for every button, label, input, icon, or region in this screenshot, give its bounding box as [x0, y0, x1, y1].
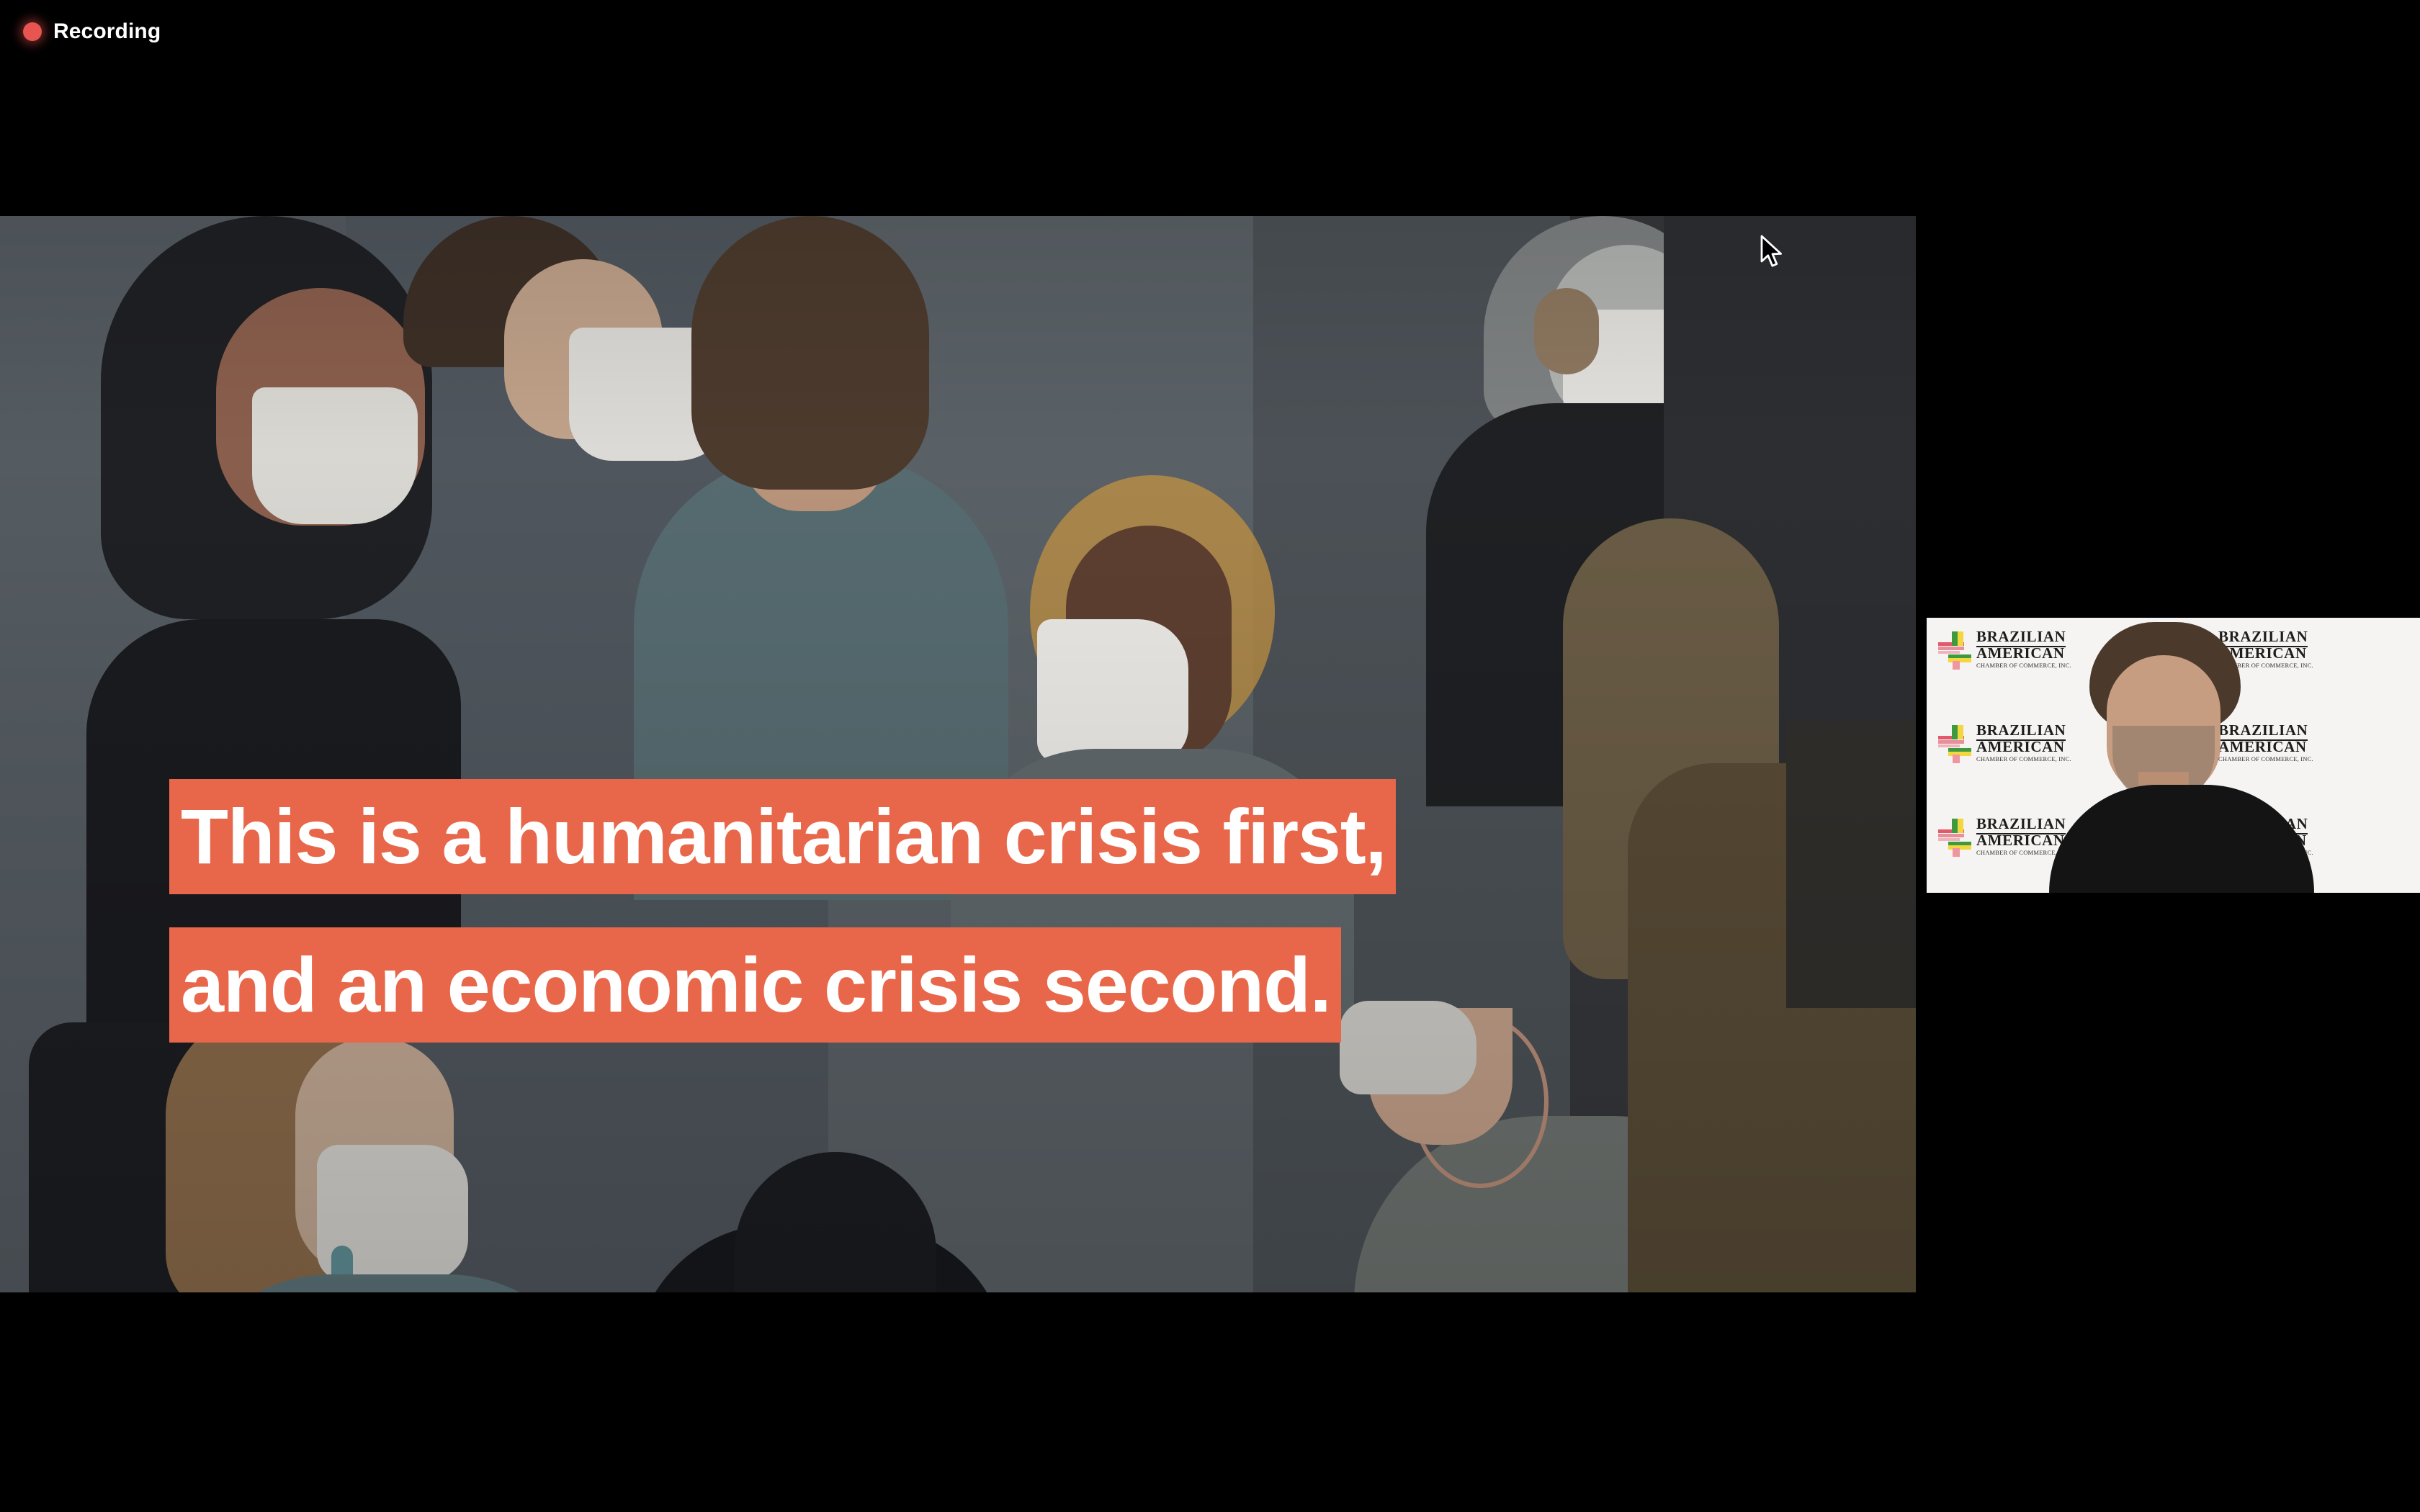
recording-label: Recording — [53, 21, 161, 42]
quote-line-1: This is a humanitarian crisis first, — [169, 779, 1396, 894]
logo-word-american: AMERICAN — [1976, 646, 2071, 661]
logo-word-american: AMERICAN — [1976, 739, 2071, 755]
speaker-avatar — [2062, 618, 2300, 893]
record-dot-icon — [23, 22, 42, 41]
sponsor-logo: BRAZILIAN AMERICAN CHAMBER OF COMMERCE, … — [1938, 816, 2071, 856]
quote-line-2: and an economic crisis second. — [169, 927, 1341, 1043]
sponsor-logo: BRAZILIAN AMERICAN CHAMBER OF COMMERCE, … — [1938, 629, 2071, 669]
brazilian-american-chamber-logo-icon — [1938, 631, 1971, 666]
mouse-pointer-icon — [1760, 235, 1785, 269]
recording-indicator: Recording — [23, 16, 161, 48]
brazilian-american-chamber-logo-icon — [1938, 819, 1971, 853]
logo-word-chamber: CHAMBER OF COMMERCE, INC. — [1976, 756, 2071, 762]
screen-root: Recording — [0, 0, 2420, 1512]
slide-quote: This is a humanitarian crisis first, and… — [169, 779, 1682, 1043]
brazilian-american-chamber-logo-icon — [1938, 725, 1971, 760]
logo-word-american: AMERICAN — [1976, 833, 2071, 848]
logo-word-chamber: CHAMBER OF COMMERCE, INC. — [1976, 662, 2071, 669]
speaker-shirt — [2049, 785, 2314, 893]
presentation-slide[interactable]: This is a humanitarian crisis first, and… — [0, 216, 1916, 1292]
slide-vignette — [0, 216, 1916, 1292]
speaker-video-thumbnail[interactable]: BRAZILIAN AMERICAN CHAMBER OF COMMERCE, … — [1927, 618, 2420, 893]
sponsor-logo: BRAZILIAN AMERICAN CHAMBER OF COMMERCE, … — [1938, 723, 2071, 762]
